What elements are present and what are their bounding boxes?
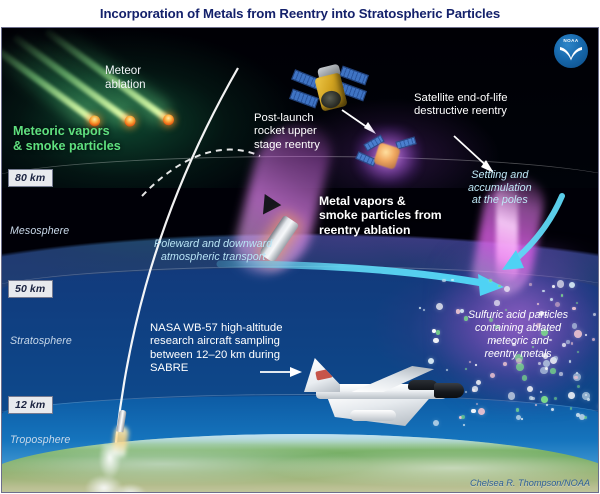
particle-dot: [576, 302, 578, 304]
layer-label-stratosphere: Stratosphere: [10, 335, 72, 347]
particle-dot: [469, 361, 472, 364]
particle-dot: [504, 286, 510, 292]
particle-dot: [574, 330, 582, 338]
particle-dot: [584, 416, 587, 419]
particle-dot: [471, 409, 476, 414]
annotation-satellite-eol: Satellite end-of-life destructive reentr…: [414, 92, 508, 119]
solar-panel: [289, 89, 319, 109]
annotation-metal-vapors: Metal vapors & smoke particles from reen…: [319, 194, 442, 237]
particle-dot: [561, 294, 564, 297]
page-title: Incorporation of Metals from Reentry int…: [100, 6, 500, 21]
particle-dot: [522, 375, 527, 380]
nasa-wb57-aircraft: [298, 354, 468, 428]
altitude-label-80km: 80 km: [8, 169, 53, 187]
particle-dot: [489, 279, 492, 282]
particle-dot: [554, 397, 557, 400]
noaa-logo: NOAA: [551, 31, 591, 71]
particle-dot: [538, 362, 541, 365]
particle-dot: [585, 394, 587, 396]
particle-dot: [476, 403, 479, 406]
particle-dot: [503, 362, 507, 366]
noaa-wordmark: NOAA: [551, 38, 591, 43]
aircraft-tail-fin: [304, 358, 340, 392]
particle-dot: [569, 282, 575, 288]
particle-dot: [527, 386, 533, 392]
particle-dot: [570, 407, 572, 409]
particle-dot: [598, 404, 599, 409]
noaa-seagull-icon: [559, 45, 583, 61]
layer-label-troposphere: Troposphere: [10, 434, 70, 446]
particle-dot: [476, 380, 481, 385]
particle-dot: [516, 363, 524, 371]
particle-dot: [592, 338, 595, 341]
particle-dot: [460, 309, 464, 313]
particle-dot: [555, 302, 560, 307]
particle-dot: [529, 283, 532, 286]
particle-dot: [552, 285, 555, 288]
particle-dot: [490, 373, 495, 378]
altitude-label-50km: 50 km: [8, 280, 53, 298]
particle-dot: [541, 396, 548, 403]
annotation-sulfuric-particles: Sulfuric acid particles containing ablat…: [468, 309, 568, 361]
particle-dot: [451, 279, 454, 282]
annotation-poleward: Poleward and downward atmospheric transp…: [154, 238, 272, 263]
meteor-trails: [1, 32, 212, 182]
particle-dot: [419, 307, 421, 309]
aircraft-nose: [434, 383, 464, 398]
particle-dot: [572, 307, 576, 311]
annotation-meteoric-vapors: Meteoric vapors & smoke particles: [13, 124, 121, 154]
particle-dot: [516, 408, 519, 411]
particle-dot: [478, 408, 485, 415]
aircraft-engine: [350, 410, 396, 421]
title-bar: Incorporation of Metals from Reentry int…: [0, 0, 600, 27]
particle-dot: [559, 372, 563, 376]
layer-label-mesosphere: Mesosphere: [10, 225, 69, 237]
particle-dot: [550, 368, 555, 373]
particle-dot: [508, 392, 516, 400]
particle-dot: [587, 398, 590, 401]
particle-dot: [498, 285, 501, 288]
particle-dot: [585, 334, 587, 336]
particle-dot: [593, 313, 596, 316]
particle-dot: [577, 385, 581, 389]
particle-dot: [569, 360, 572, 363]
particle-dot: [568, 392, 575, 399]
particle-dot: [494, 300, 500, 306]
satellite-breakup: [354, 125, 422, 187]
particle-dot: [442, 279, 446, 283]
particle-dot: [542, 290, 544, 292]
particle-dot: [572, 323, 578, 329]
particle-dot: [576, 413, 580, 417]
particle-dot: [550, 298, 553, 301]
particle-dot: [436, 330, 440, 334]
particle-dot: [537, 303, 539, 305]
particle-dot: [436, 303, 443, 310]
particle-dot: [475, 364, 477, 366]
particle-dot: [472, 386, 478, 392]
particle-dot: [571, 342, 574, 345]
particle-dot: [540, 391, 542, 393]
annotation-wb57: NASA WB-57 high-altitude research aircra…: [150, 322, 283, 375]
particle-dot: [456, 309, 461, 314]
infographic-figure: Incorporation of Metals from Reentry int…: [0, 0, 600, 494]
nasa-tail-marking: [315, 368, 333, 380]
particle-dot: [577, 351, 579, 353]
scene: 80 km 50 km 12 km Mesosphere Stratospher…: [1, 27, 599, 493]
annotation-meteor-ablation: Meteor ablation: [105, 64, 146, 91]
annotation-settling: Settling and accumulation at the poles: [468, 169, 532, 207]
particle-dot: [423, 309, 425, 311]
particle-dot: [433, 338, 439, 344]
particle-dot: [521, 418, 523, 420]
particle-dot: [543, 360, 550, 367]
annotation-post-launch: Post-launch rocket upper stage reentry: [254, 112, 320, 152]
particle-dot: [535, 404, 537, 406]
launching-rocket: [86, 410, 156, 493]
particle-dot: [557, 280, 565, 288]
particle-dot: [546, 404, 548, 406]
credit-line: Chelsea R. Thompson/NOAA: [470, 478, 590, 488]
altitude-label-12km: 12 km: [8, 396, 53, 414]
particle-dot: [551, 408, 554, 411]
